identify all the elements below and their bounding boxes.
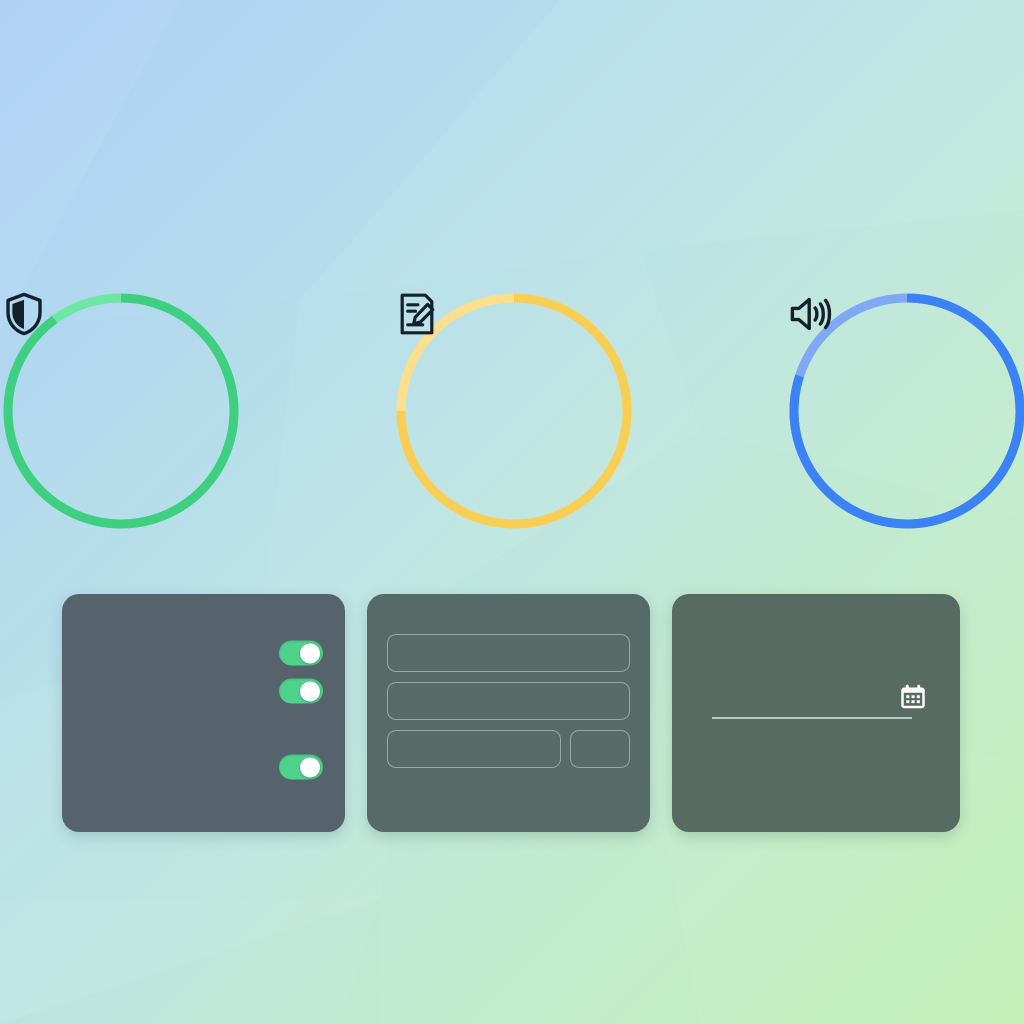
privacy-row-data-usage[interactable] [102, 710, 323, 748]
toggle-limited[interactable] [279, 755, 323, 780]
address-field[interactable] [387, 730, 561, 768]
posting-optimize-card [672, 594, 960, 832]
add-button[interactable] [570, 730, 630, 768]
address-row [387, 730, 630, 768]
gauge-row [0, 290, 1024, 540]
toggle-profile-visibility[interactable] [279, 679, 323, 704]
contact-fields [385, 634, 632, 768]
phone-field[interactable] [387, 682, 630, 720]
update-contact-card [367, 594, 650, 832]
email-field[interactable] [387, 634, 630, 672]
gauge-privacy-settings[interactable] [0, 290, 238, 532]
privacy-row-profile-visibility[interactable] [102, 672, 323, 710]
gauge-contact-info[interactable] [393, 290, 631, 532]
calendar-icon[interactable] [898, 682, 928, 712]
edit-document-icon [488, 374, 536, 422]
privacy-row-limited[interactable] [102, 748, 323, 786]
shield-icon [95, 374, 143, 422]
gauge-content-frequency[interactable] [786, 290, 1024, 532]
privacy-controls-card [62, 594, 345, 832]
chart-bars [714, 642, 910, 718]
toggle-location-sharing[interactable] [279, 641, 323, 666]
privacy-row-location-sharing[interactable] [102, 634, 323, 672]
speaker-icon [881, 374, 929, 422]
posting-bar-chart [690, 632, 942, 760]
privacy-rows [80, 634, 327, 786]
card-row [62, 594, 962, 832]
chart-baseline [712, 717, 912, 719]
